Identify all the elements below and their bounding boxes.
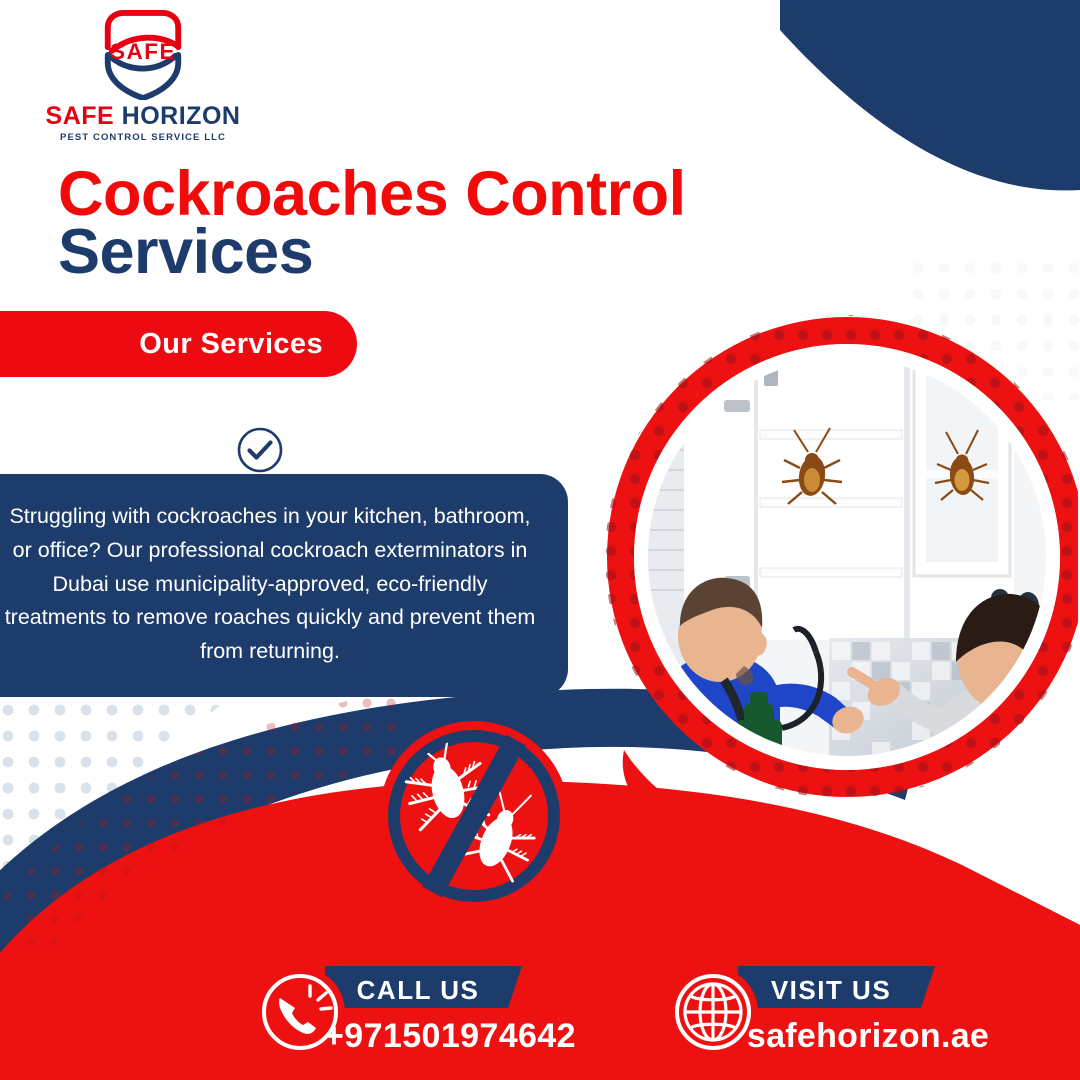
- headline-line-1: Cockroaches Control: [58, 166, 818, 224]
- description-text: Struggling with cockroaches in your kitc…: [2, 500, 538, 669]
- our-services-label: Our Services: [139, 328, 323, 361]
- logo-word-safe: SAFE: [46, 102, 115, 130]
- shield-wordmark: SAFE: [110, 39, 176, 64]
- our-services-banner[interactable]: Our Services: [0, 311, 357, 377]
- navy-swoosh-top-right: [780, 0, 1080, 190]
- no-cockroach-prohibition-icon: [374, 716, 574, 916]
- description-panel: Struggling with cockroaches in your kitc…: [0, 474, 568, 697]
- headline-line-2: Services: [58, 224, 818, 282]
- safe-shield-icon: SAFE: [94, 8, 192, 100]
- call-us-number[interactable]: +971501974642: [324, 1017, 576, 1055]
- flyer-canvas: SAFE SAFE HORIZON PEST CONTROL SERVICE L…: [0, 0, 1080, 1080]
- brand-logo[interactable]: SAFE SAFE HORIZON PEST CONTROL SERVICE L…: [38, 8, 248, 143]
- photo-alt-text: Pest control technician in blue uniform …: [0, 0, 1, 1]
- hero-photo: [604, 280, 1078, 850]
- logo-wordmark: SAFE HORIZON: [38, 104, 248, 129]
- page-title: Cockroaches Control Services: [58, 166, 818, 282]
- call-us-cta[interactable]: CALL US +971501974642: [250, 962, 650, 1062]
- visit-us-label: VISIT US: [771, 975, 891, 1005]
- logo-word-horizon: HORIZON: [122, 102, 241, 130]
- logo-tagline: PEST CONTROL SERVICE LLC: [38, 133, 248, 143]
- call-us-label: CALL US: [357, 975, 480, 1005]
- globe-icon: [668, 967, 758, 1057]
- visit-us-cta[interactable]: VISIT US safehorizon.ae: [663, 962, 1063, 1062]
- visit-us-website[interactable]: safehorizon.ae: [747, 1017, 989, 1055]
- check-circle-icon: [236, 426, 284, 474]
